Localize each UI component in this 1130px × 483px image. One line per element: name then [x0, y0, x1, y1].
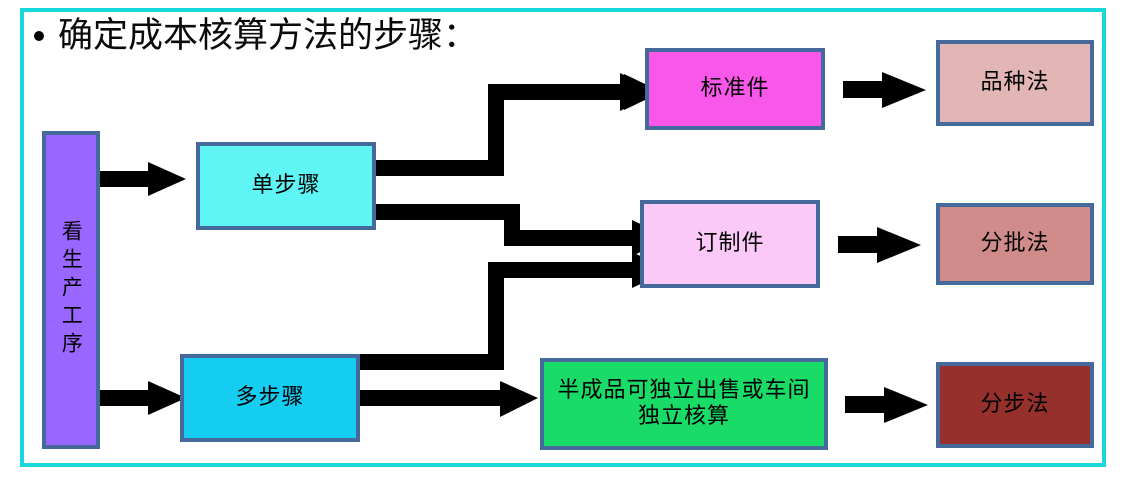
- connector-connector-multi-to-custom: [360, 252, 670, 370]
- connector-process-to-multi: [100, 381, 186, 415]
- connector-custom-to-batch: [838, 227, 921, 263]
- node-label: 分步法: [976, 392, 1053, 418]
- slide-title: 确定成本核算方法的步骤：: [34, 12, 734, 60]
- node-label: 品种法: [976, 70, 1053, 96]
- node-variety-method[interactable]: 品种法: [936, 40, 1094, 126]
- node-label: 分批法: [976, 231, 1053, 257]
- connector-multi-to-semi: [360, 381, 538, 417]
- node-multi-step[interactable]: 多步骤: [180, 354, 360, 442]
- node-label: 多步骤: [231, 385, 308, 411]
- node-label: 单步骤: [247, 173, 324, 199]
- page-title: 确定成本核算方法的步骤：: [58, 19, 478, 54]
- node-production-process[interactable]: 看生产工序: [42, 131, 100, 449]
- node-single-step[interactable]: 单步骤: [196, 142, 376, 230]
- node-batch-method[interactable]: 分批法: [936, 203, 1094, 285]
- flowchart-slide: 确定成本核算方法的步骤：: [0, 0, 1130, 483]
- node-label: 半成品可独立出售或车间独立核算: [544, 378, 824, 430]
- connector-semi-to-stepwise: [845, 387, 928, 423]
- connector-single-to-standard: [376, 73, 662, 176]
- connector-process-to-single: [100, 162, 186, 196]
- bullet-dot-icon: [34, 31, 44, 41]
- connector-single-to-custom: [376, 204, 670, 256]
- node-custom-part[interactable]: 订制件: [640, 200, 820, 288]
- node-stepwise-method[interactable]: 分步法: [936, 362, 1094, 448]
- node-standard-part[interactable]: 标准件: [645, 48, 825, 130]
- node-label: 看生产工序: [55, 220, 88, 360]
- node-semi-finished-goods[interactable]: 半成品可独立出售或车间独立核算: [540, 358, 828, 450]
- connector-standard-to-variety: [843, 72, 926, 108]
- node-label: 订制件: [691, 231, 768, 257]
- node-label: 标准件: [696, 76, 773, 102]
